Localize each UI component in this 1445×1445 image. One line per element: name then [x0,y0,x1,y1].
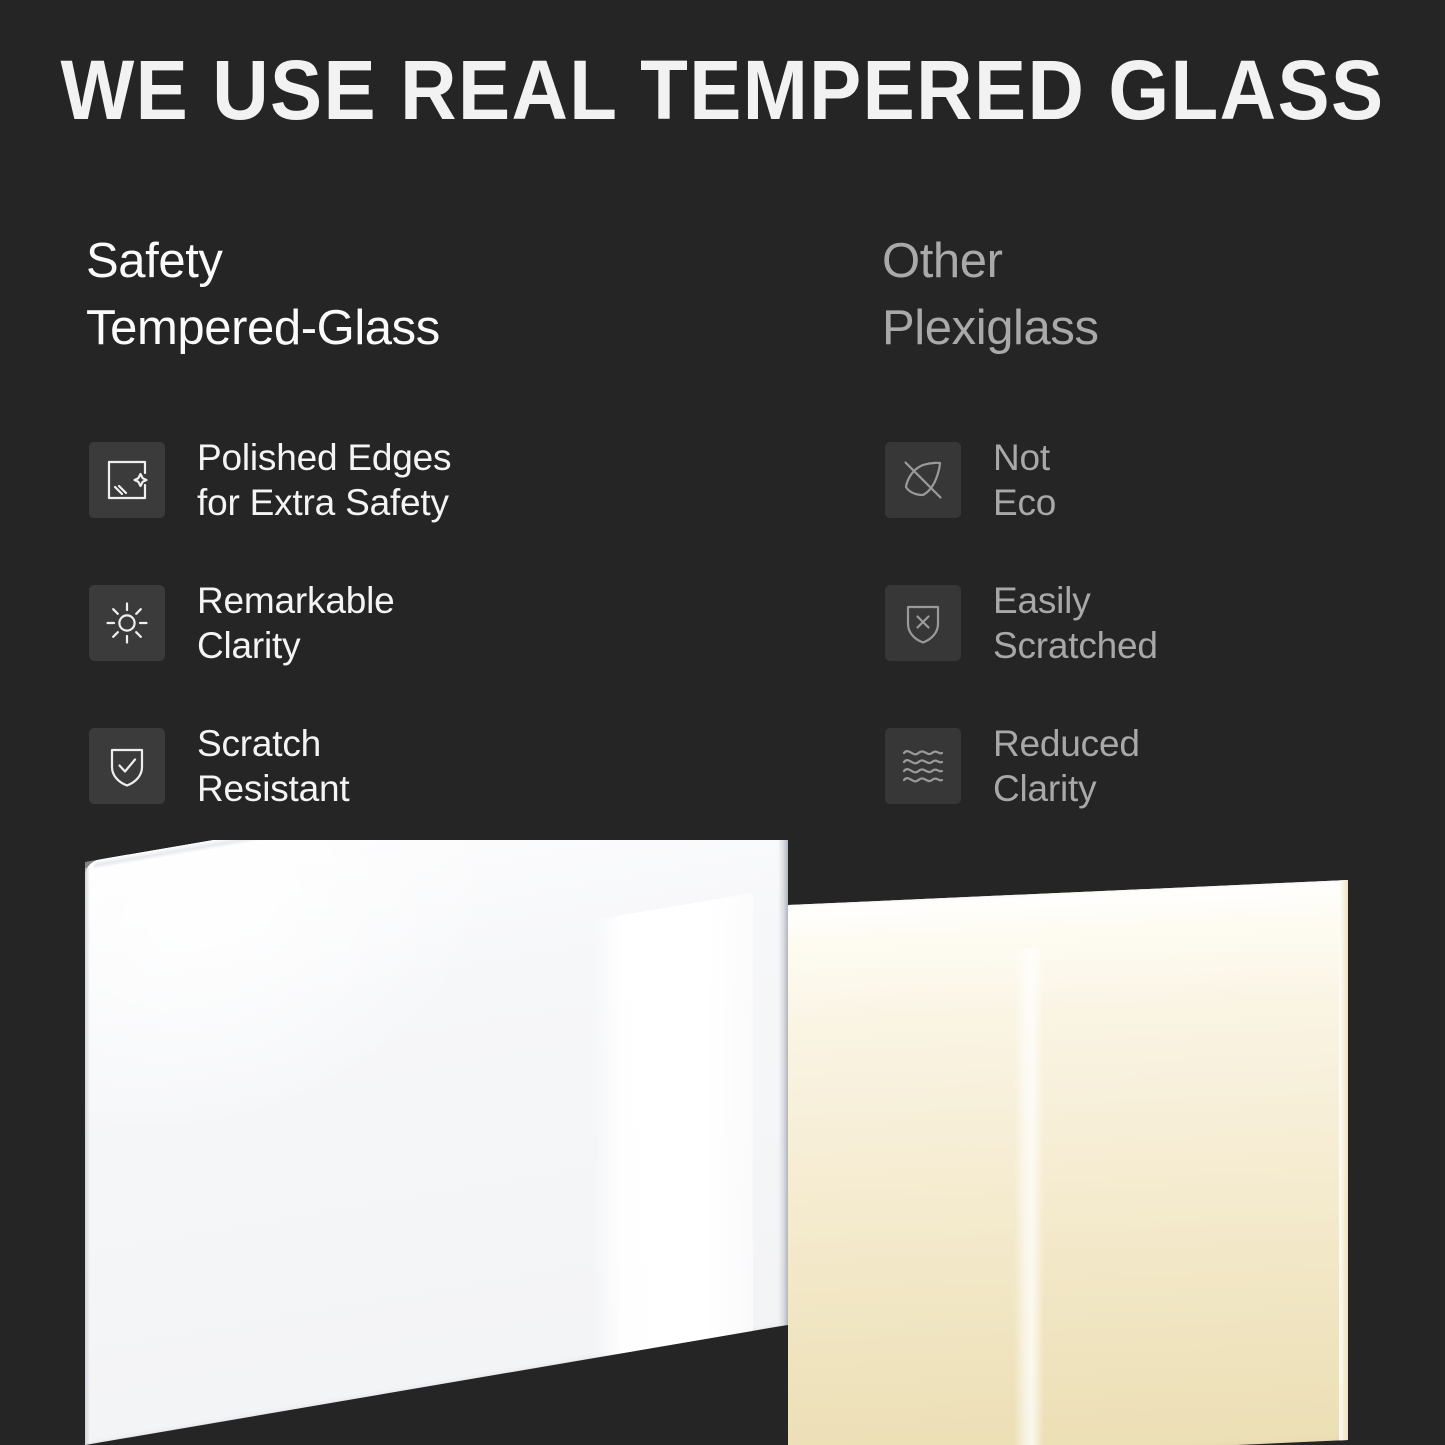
right-heading-line-2: Plexiglass [882,295,1442,362]
feature-remarkable-clarity: Remarkable Clarity [89,573,649,673]
tempered-glass-panel [85,840,788,1445]
feature-scratch-resistant: Scratch Resistant [89,716,649,816]
column-other-plexiglass: Other Plexiglass Not Eco [882,228,1442,362]
wavy-lines-icon [885,728,961,804]
comparison-columns: Safety Tempered-Glass Polished Edg [0,228,1445,848]
plexiglass-right-edge [1339,880,1348,1440]
tempered-glass-right-edge [778,840,788,1327]
right-heading-line-1: Other [882,228,1442,295]
left-heading-line-2: Tempered-Glass [86,295,646,362]
feature-polished-edges: Polished Edges for Extra Safety [89,430,649,530]
feature-label: Polished Edges for Extra Safety [197,435,451,525]
tempered-glass-reflection [593,893,753,1358]
column-safety-tempered-glass: Safety Tempered-Glass Polished Edg [86,228,646,362]
leaf-slashed-icon [885,442,961,518]
plexiglass-sheen [1014,948,1044,1445]
left-heading-line-1: Safety [86,228,646,295]
shield-x-icon [885,585,961,661]
sun-clarity-icon [89,585,165,661]
shield-check-icon [89,728,165,804]
feature-reduced-clarity: Reduced Clarity [885,716,1445,816]
feature-label: Easily Scratched [993,578,1158,668]
feature-label: Not Eco [993,435,1056,525]
plexiglass-panel [788,880,1348,1445]
polished-panel-sparkle-icon [89,442,165,518]
feature-easily-scratched: Easily Scratched [885,573,1445,673]
feature-label: Scratch Resistant [197,721,349,811]
left-feature-list: Polished Edges for Extra Safety [89,430,649,859]
left-column-heading: Safety Tempered-Glass [86,228,646,362]
right-column-heading: Other Plexiglass [882,228,1442,362]
feature-label: Reduced Clarity [993,721,1140,811]
right-feature-list: Not Eco Easily Scratched [885,430,1445,859]
glass-panel-illustration [0,840,1445,1445]
feature-label: Remarkable Clarity [197,578,394,668]
tempered-glass-left-edge [85,867,90,1445]
page-title: WE USE REAL TEMPERED GLASS [51,42,1395,139]
feature-not-eco: Not Eco [885,430,1445,530]
tempered-glass-comparison-infographic: WE USE REAL TEMPERED GLASS Safety Temper… [0,0,1445,1445]
